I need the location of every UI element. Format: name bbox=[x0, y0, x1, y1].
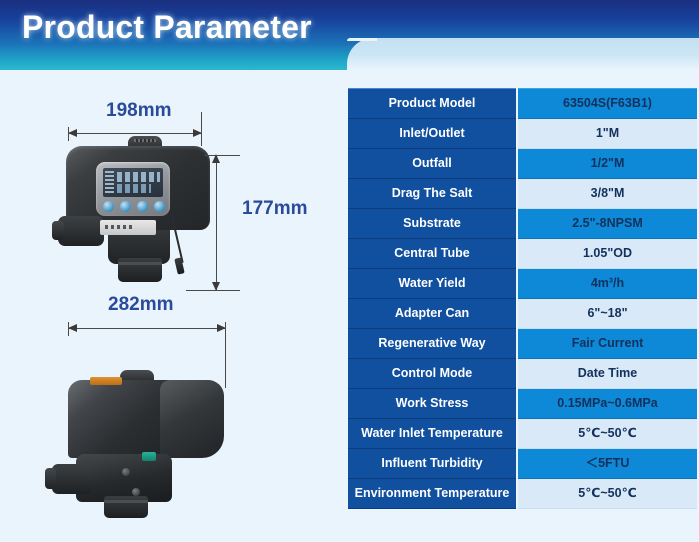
table-row: Inlet/Outlet 1"M bbox=[348, 119, 697, 149]
table-row: Work Stress 0.15MPa~0.6MPa bbox=[348, 389, 697, 419]
table-row: Water Inlet Temperature 5℃~50℃ bbox=[348, 419, 697, 449]
spec-label: Drag The Salt bbox=[348, 179, 517, 209]
spec-label: Outfall bbox=[348, 149, 517, 179]
spec-label: Central Tube bbox=[348, 239, 517, 269]
spec-value: 3/8"M bbox=[517, 179, 697, 209]
dimension-label-width-282mm: 282mm bbox=[108, 294, 174, 316]
spec-value: 1.05"OD bbox=[517, 239, 697, 269]
spec-label: Water Inlet Temperature bbox=[348, 419, 517, 449]
dimension-tick-left-282mm bbox=[68, 322, 69, 336]
valve-button-3 bbox=[137, 201, 148, 212]
table-row: Influent Turbidity ＜5FTU bbox=[348, 449, 697, 479]
side-valve-inlet-port bbox=[52, 464, 92, 494]
side-valve-green-marker bbox=[142, 452, 156, 461]
table-row: Adapter Can 6"~18" bbox=[348, 299, 697, 329]
valve-button-1 bbox=[103, 201, 114, 212]
valve-certification-label bbox=[100, 220, 156, 235]
dimension-tick-top-177mm bbox=[204, 155, 240, 156]
spec-value: 5℃~50℃ bbox=[517, 479, 697, 509]
valve-control-panel bbox=[96, 162, 170, 216]
page-title: Product Parameter bbox=[22, 9, 312, 46]
dimension-arrow-left-282mm bbox=[68, 324, 77, 332]
spec-value: 4m³/h bbox=[517, 269, 697, 299]
table-row: Outfall 1/2"M bbox=[348, 149, 697, 179]
lcd-digits-secondary bbox=[117, 184, 151, 193]
spec-value: 6"~18" bbox=[517, 299, 697, 329]
spec-value: ＜5FTU bbox=[517, 449, 697, 479]
side-valve-body-housing bbox=[68, 380, 174, 458]
spec-label: Adapter Can bbox=[348, 299, 517, 329]
valve-button-4 bbox=[154, 201, 165, 212]
dimension-line-177mm bbox=[216, 156, 217, 290]
table-row: Substrate 2.5"-8NPSM bbox=[348, 209, 697, 239]
spec-label: Influent Turbidity bbox=[348, 449, 517, 479]
dimension-label-width-198mm: 198mm bbox=[106, 100, 172, 122]
spec-table-body: Product Model 63504S(F63B1) Inlet/Outlet… bbox=[348, 89, 697, 509]
dimension-label-height-177mm: 177mm bbox=[242, 198, 308, 220]
side-valve-rear-cover bbox=[160, 380, 224, 458]
table-row: Environment Temperature 5℃~50℃ bbox=[348, 479, 697, 509]
side-valve-base-ring bbox=[104, 496, 148, 518]
spec-value: 2.5"-8NPSM bbox=[517, 209, 697, 239]
lcd-bargraph bbox=[105, 171, 114, 194]
table-row: Water Yield 4m³/h bbox=[348, 269, 697, 299]
spec-value: Fair Current bbox=[517, 329, 697, 359]
spec-label: Work Stress bbox=[348, 389, 517, 419]
dimension-tick-bottom-177mm bbox=[186, 290, 240, 291]
valve-base-ring bbox=[118, 258, 162, 282]
spec-value: 63504S(F63B1) bbox=[517, 89, 697, 119]
spec-label: Product Model bbox=[348, 89, 517, 119]
spec-label: Control Mode bbox=[348, 359, 517, 389]
spec-value: Date Time bbox=[517, 359, 697, 389]
header-banner: Product Parameter bbox=[0, 0, 699, 70]
valve-side-port bbox=[58, 216, 104, 246]
table-row: Central Tube 1.05"OD bbox=[348, 239, 697, 269]
lcd-digits-primary bbox=[117, 172, 160, 182]
spec-label: Environment Temperature bbox=[348, 479, 517, 509]
table-row: Drag The Salt 3/8"M bbox=[348, 179, 697, 209]
spec-label: Substrate bbox=[348, 209, 517, 239]
table-row: Control Mode Date Time bbox=[348, 359, 697, 389]
product-photo-side-view bbox=[60, 360, 240, 520]
side-valve-orange-marker bbox=[90, 377, 122, 385]
table-row: Product Model 63504S(F63B1) bbox=[348, 89, 697, 119]
spec-value: 1/2"M bbox=[517, 149, 697, 179]
side-valve-bolt-2 bbox=[132, 488, 140, 496]
spec-value: 0.15MPa~0.6MPa bbox=[517, 389, 697, 419]
spec-label: Regenerative Way bbox=[348, 329, 517, 359]
product-image-column: 198mm bbox=[0, 70, 344, 542]
header-banner-right-panel bbox=[347, 38, 699, 70]
spec-value: 5℃~50℃ bbox=[517, 419, 697, 449]
product-photo-front-view bbox=[66, 130, 216, 290]
spec-label: Inlet/Outlet bbox=[348, 119, 517, 149]
spec-label: Water Yield bbox=[348, 269, 517, 299]
product-specification-table: Product Model 63504S(F63B1) Inlet/Outlet… bbox=[348, 88, 697, 509]
side-valve-bolt-1 bbox=[122, 468, 130, 476]
spec-value: 1"M bbox=[517, 119, 697, 149]
valve-button-2 bbox=[120, 201, 131, 212]
valve-button-row bbox=[103, 201, 165, 212]
table-row: Regenerative Way Fair Current bbox=[348, 329, 697, 359]
valve-lcd-display bbox=[103, 168, 163, 197]
dimension-line-282mm bbox=[68, 328, 226, 329]
